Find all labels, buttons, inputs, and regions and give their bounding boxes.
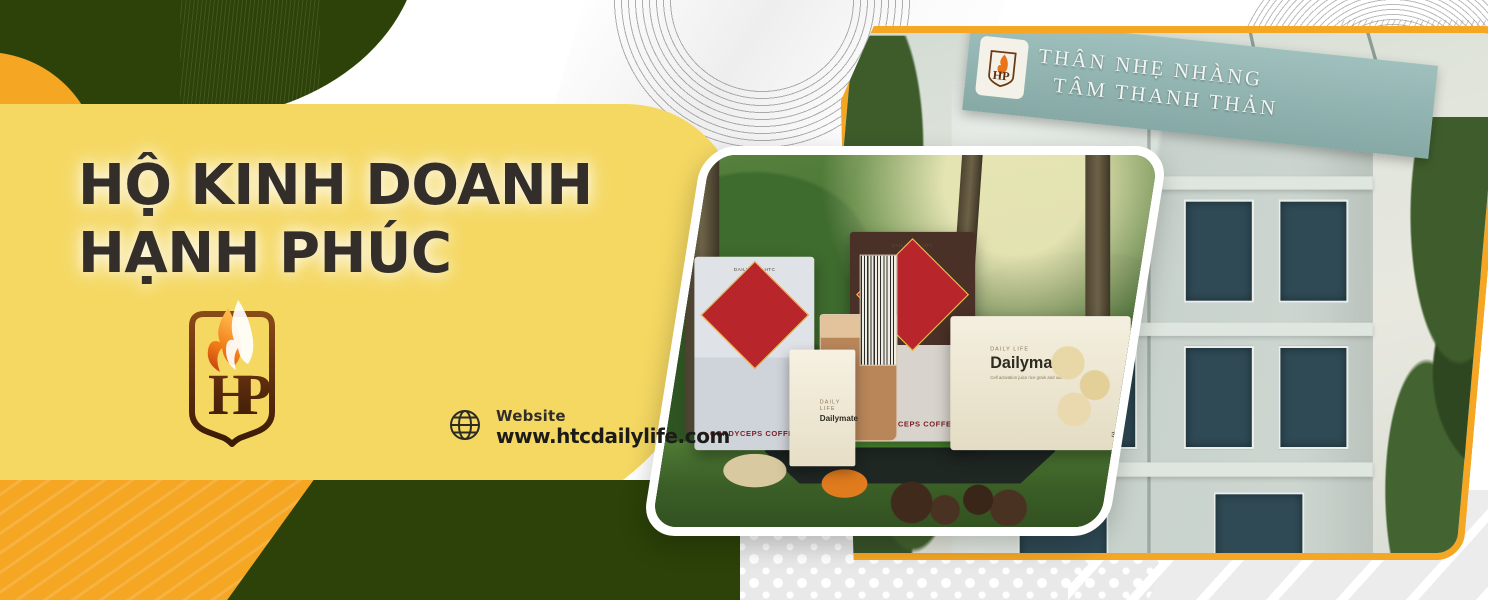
- building-window: [1184, 346, 1254, 450]
- product-photo-inner: DAILY LIFE HTC CORDYCEPS COFFEE DAILY LI…: [654, 146, 1155, 536]
- website-url[interactable]: www.htcdailylife.com: [496, 425, 730, 447]
- dailymate-sachet: DAILY LIFE Dailymate: [790, 349, 855, 466]
- product-photo: DAILY LIFE HTC CORDYCEPS COFFEE DAILY LI…: [641, 146, 1169, 536]
- svg-text:HP: HP: [993, 68, 1012, 84]
- page-title: HỘ KINH DOANH HẠNH PHÚC: [78, 152, 638, 289]
- building-window: [1278, 199, 1348, 303]
- signboard-flame-crest-icon: HP: [985, 46, 1020, 89]
- hp-flame-crest-logo: H P: [178, 292, 286, 478]
- headline-line-1: HỘ KINH DOANH: [78, 152, 638, 220]
- website-label: Website: [496, 408, 730, 425]
- coffee-beans-prop: [885, 479, 1035, 525]
- sachet-name: Dailymate: [820, 415, 825, 423]
- website-text-group: Website www.htcdailylife.com: [496, 408, 730, 447]
- dailymate-count: 30: [1111, 432, 1119, 440]
- left-content-area: HỘ KINH DOANH HẠNH PHÚC: [0, 0, 700, 600]
- website-contact-block[interactable]: Website www.htcdailylife.com: [448, 408, 730, 447]
- building-window: [1213, 492, 1305, 560]
- building-window: [1184, 199, 1254, 303]
- svg-text:P: P: [236, 362, 271, 427]
- signboard-hp-logo: HP: [975, 35, 1029, 99]
- headline-line-2: HẠNH PHÚC: [78, 220, 638, 288]
- promotional-banner: HP THÂN NHẸ NHÀNG TÂM THANH THẢN DAILY L…: [0, 0, 1488, 600]
- dailymate-box-artwork: [1044, 332, 1123, 434]
- nutrition-facts-panel: [860, 255, 897, 366]
- signboard-text: THÂN NHẸ NHÀNG TÂM THANH THẢN: [1035, 45, 1282, 122]
- dailymate-box: DAILY LIFE Dailymate Cell activation jui…: [950, 316, 1130, 450]
- sachet-brand: DAILY LIFE: [820, 400, 825, 413]
- building-window: [1278, 346, 1348, 450]
- globe-icon: [448, 408, 482, 447]
